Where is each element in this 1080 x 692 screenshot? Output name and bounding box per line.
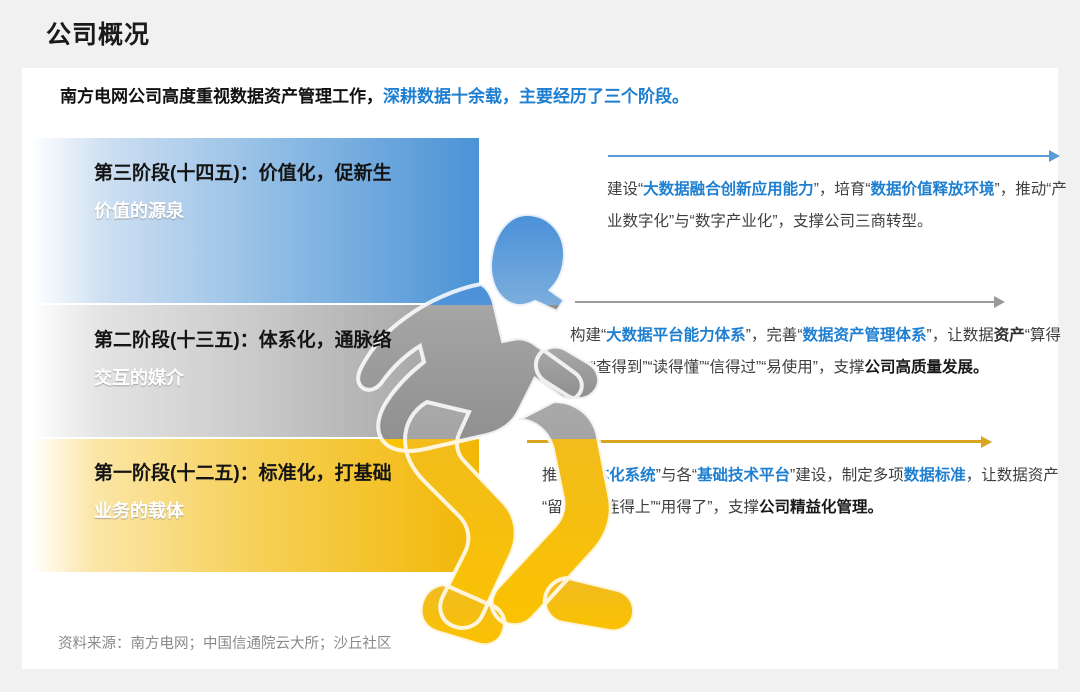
arrow-right-icon-1 [527,435,992,449]
detail-paragraph-2: 构建“大数据平台能力体系”，完善“数据资产管理体系”，让数据资产“算得快”“查得… [570,320,1070,384]
detail-3-segment-1: 大数据融合创新应用能力 [643,181,814,198]
slide-root: 公司概况 南方电网公司高度重视数据资产管理工作，深耕数据十余载，主要经历了三个阶… [0,0,1080,692]
stage-text-2: 第二阶段(十三五)：体系化，通脉络 交互的媒介 [94,327,392,391]
detail-2-segment-7: 公司高质量发展。 [864,359,988,376]
arrow-right-icon-2 [575,295,1005,309]
stage-title-2: 第二阶段(十三五)：体系化，通脉络 [94,327,392,355]
arrow-head-1 [981,436,992,448]
stage-title-3: 第三阶段(十四五)：价值化，促新生 [94,160,392,188]
detail-3-segment-3: 数据价值释放环境 [871,181,995,198]
detail-1-segment-3: 基础技术平台 [697,467,790,484]
arrow-shaft-1 [527,440,981,443]
detail-2-segment-0: 构建“ [570,327,606,344]
page-title: 公司概况 [46,18,150,52]
stage-title-1: 第一阶段(十二五)：标准化，打基础 [94,460,392,488]
detail-1-segment-7: 公司精益化管理。 [759,499,883,516]
detail-1-segment-5: 数据标准 [904,467,966,484]
detail-3-segment-0: 建设“ [607,181,643,198]
arrow-shaft-2 [575,301,994,303]
detail-paragraph-3: 建设“大数据融合创新应用能力”，培育“数据价值释放环境”，推动“产业数字化”与“… [607,174,1077,238]
detail-paragraph-1: 推进“一体化系统”与各“基础技术平台”建设，制定多项数据标准，让数据资产“留得下… [542,460,1062,524]
detail-1-segment-0: 推进“ [542,467,578,484]
detail-1-segment-2: ”与各“ [656,467,697,484]
stage-text-3: 第三阶段(十四五)：价值化，促新生 价值的源泉 [94,160,392,224]
content-card: 南方电网公司高度重视数据资产管理工作，深耕数据十余载，主要经历了三个阶段。 [22,68,1058,669]
detail-3-segment-2: ”，培育“ [814,181,871,198]
arrow-right-icon-3 [608,149,1060,163]
detail-2-segment-5: 资产 [994,327,1025,344]
stage-text-1: 第一阶段(十二五)：标准化，打基础 业务的载体 [94,460,392,524]
source-note: 资料来源：南方电网；中国信通院云大所；沙丘社区 [58,633,392,655]
stage-subtitle-3: 价值的源泉 [94,198,392,224]
arrow-head-2 [994,296,1005,308]
arrow-shaft-3 [608,155,1049,157]
detail-2-segment-2: ”，完善“ [746,327,803,344]
stage-subtitle-1: 业务的载体 [94,498,392,524]
detail-2-segment-1: 大数据平台能力体系 [606,327,746,344]
detail-2-segment-4: ”，让数据 [927,327,994,344]
detail-1-segment-1: 一体化系统 [578,467,656,484]
detail-2-segment-3: 数据资产管理体系 [803,327,927,344]
arrow-head-3 [1049,150,1060,162]
detail-1-segment-4: ”建设，制定多项 [790,467,904,484]
stage-subtitle-2: 交互的媒介 [94,365,392,391]
